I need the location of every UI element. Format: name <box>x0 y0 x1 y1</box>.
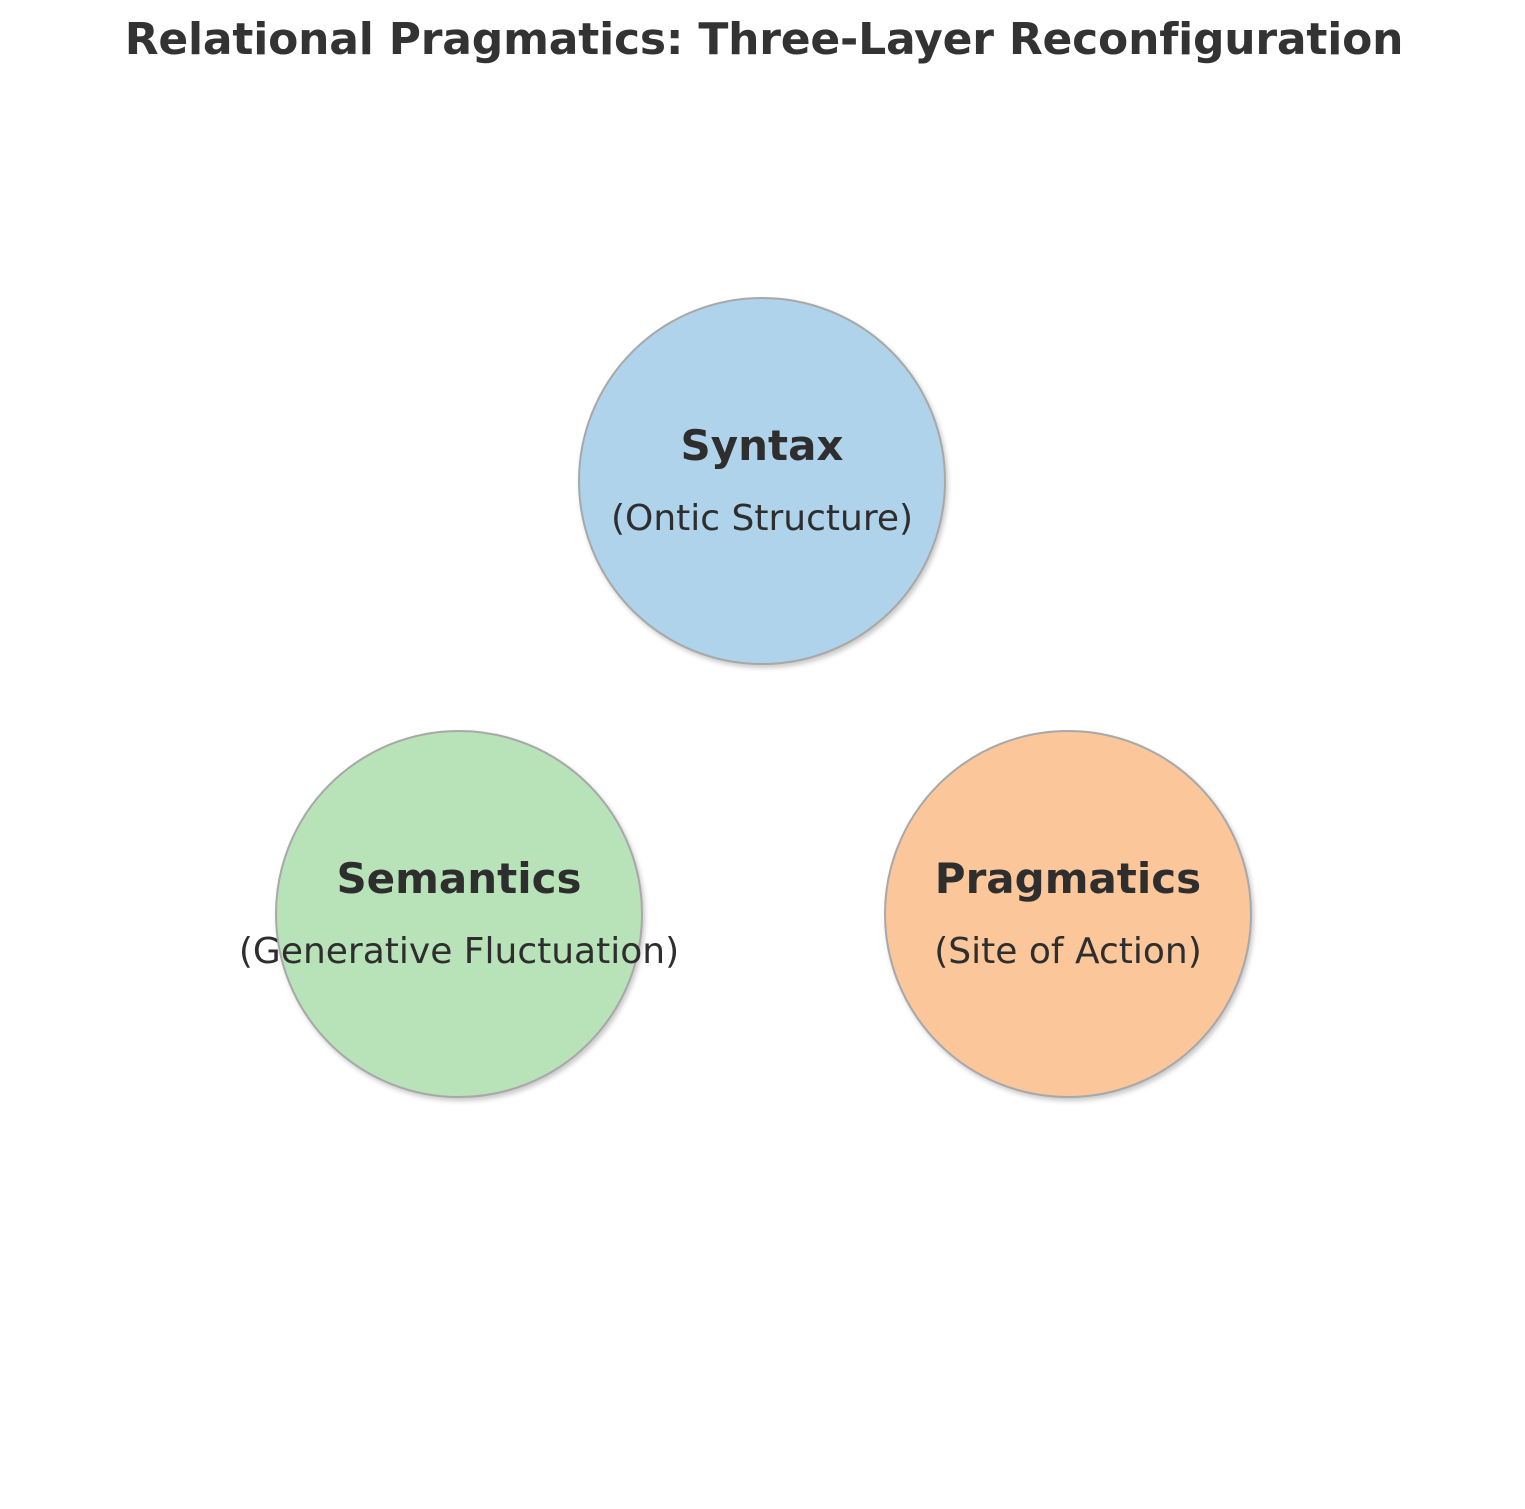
node-semantics-text: Semantics (Generative Fluctuation) <box>109 856 809 972</box>
node-pragmatics-text: Pragmatics (Site of Action) <box>718 856 1418 972</box>
node-pragmatics-sublabel: (Site of Action) <box>718 933 1418 972</box>
node-pragmatics-label: Pragmatics <box>718 856 1418 901</box>
node-semantics-label: Semantics <box>109 856 809 901</box>
diagram-canvas: Relational Pragmatics: Three-Layer Recon… <box>0 0 1525 1509</box>
node-semantics[interactable]: Semantics (Generative Fluctuation) <box>275 730 643 1098</box>
page-title: Relational Pragmatics: Three-Layer Recon… <box>30 14 1498 67</box>
node-syntax-sublabel: (Ontic Structure) <box>412 500 1112 539</box>
node-syntax[interactable]: Syntax (Ontic Structure) <box>578 297 946 665</box>
node-syntax-text: Syntax (Ontic Structure) <box>412 423 1112 539</box>
node-pragmatics[interactable]: Pragmatics (Site of Action) <box>884 730 1252 1098</box>
node-syntax-label: Syntax <box>412 423 1112 468</box>
node-semantics-sublabel: (Generative Fluctuation) <box>109 933 809 972</box>
